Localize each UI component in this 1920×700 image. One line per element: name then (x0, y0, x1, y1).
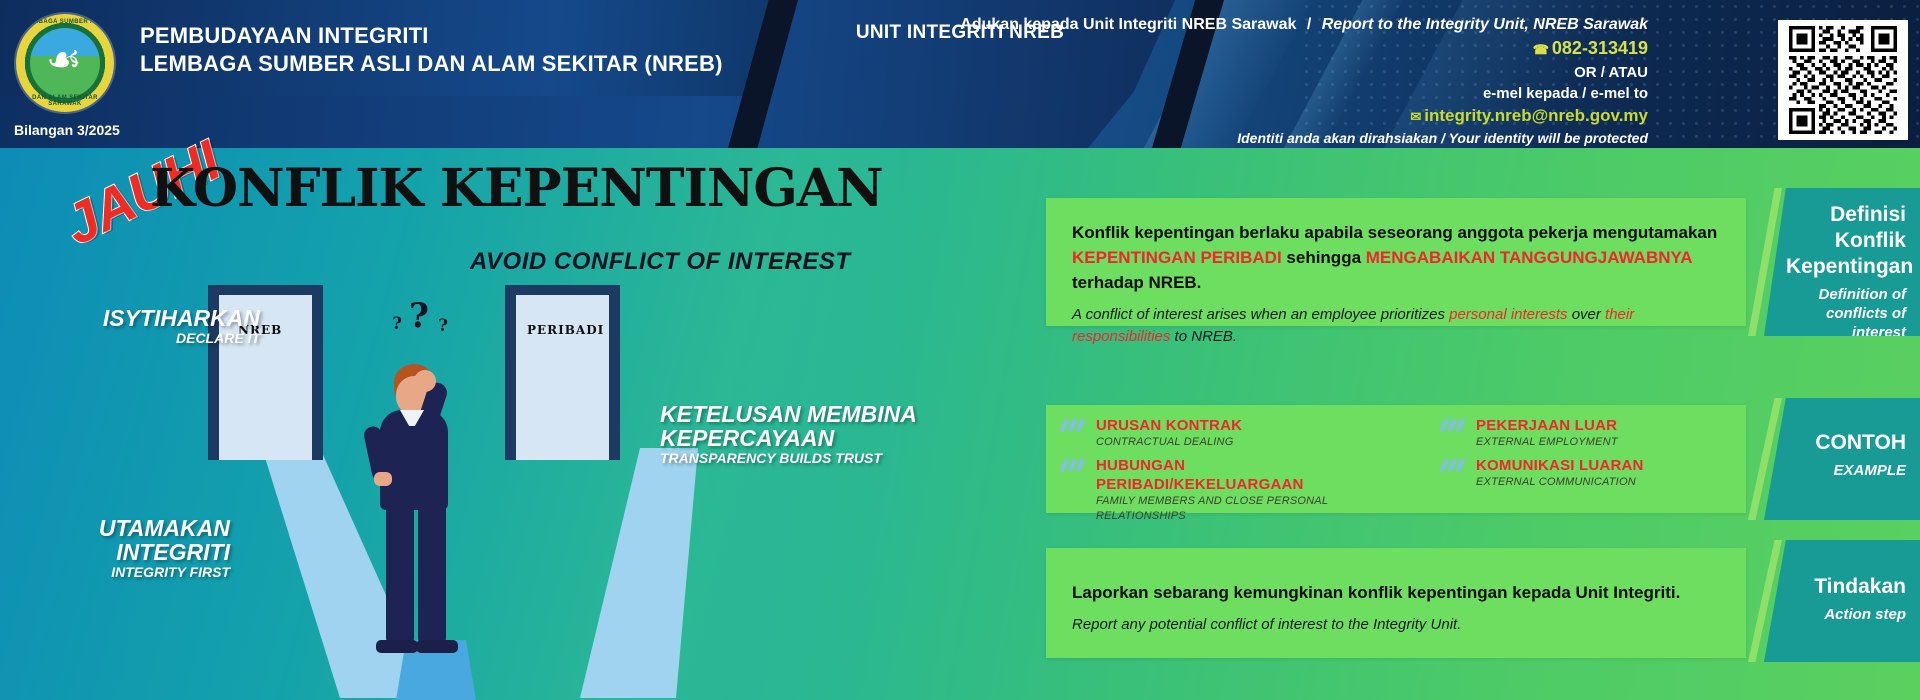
example-ms: PEKERJAAN LUAR (1476, 416, 1760, 435)
envelope-icon: ✉ (1410, 109, 1421, 124)
definition-en-post: to NREB. (1170, 328, 1237, 345)
tab-action-en: Action step (1786, 605, 1906, 624)
panel-action: Laporkan sebarang kemungkinan konflik ke… (1046, 548, 1746, 658)
example-item: KOMUNIKASI LUARAN EXTERNAL COMMUNICATION (1440, 456, 1760, 490)
header-title-line2: LEMBAGA SUMBER ASLI DAN ALAM SEKITAR (NR… (140, 50, 723, 78)
definition-ms-mid: sehingga (1282, 248, 1366, 267)
tab-example-en: EXAMPLE (1786, 461, 1906, 480)
examples-column-right: PEKERJAAN LUAR EXTERNAL EMPLOYMENT KOMUN… (1440, 416, 1760, 496)
tab-definition-ms-l2: Konflik (1786, 228, 1906, 254)
definition-text-en: A conflict of interest arises when an em… (1072, 304, 1720, 348)
hero-subheadline: AVOID CONFLICT OF INTEREST (470, 248, 851, 276)
hero-headline: KONFLIK KEPENTINGAN (150, 158, 883, 219)
definition-text-ms: Konflik kepentingan berlaku apabila sese… (1072, 220, 1720, 295)
caption-trust-ms-1: KETELUSAN MEMBINA (660, 402, 920, 426)
arrows-icon (1442, 459, 1468, 471)
phone-number: 082-313419 (1552, 38, 1648, 58)
poster-canvas: ☙ LEMBAGA SUMBER ASLI DAN ALAM SEKITAR S… (0, 0, 1920, 700)
tab-action-ms: Tindakan (1786, 574, 1906, 600)
tab-definition-ms-l1: Definisi (1786, 202, 1906, 228)
definition-en-pre: A conflict of interest arises when an em… (1072, 306, 1449, 323)
caption-declare: ISYTIHARKAN DECLARE IT (70, 306, 260, 346)
example-item: PEKERJAAN LUAR EXTERNAL EMPLOYMENT (1440, 416, 1760, 450)
tab-definition[interactable]: Definisi Konflik Kepentingan Definition … (1764, 188, 1920, 336)
caption-transparency: KETELUSAN MEMBINA KEPERCAYAAN TRANSPAREN… (660, 402, 920, 466)
email-label: e-mel kepada / e-mel to (808, 83, 1648, 104)
qr-code[interactable] (1778, 20, 1908, 140)
example-en: EXTERNAL COMMUNICATION (1476, 475, 1760, 490)
door-right-label: PERIBADI (527, 323, 604, 337)
arrows-icon (1442, 419, 1468, 431)
definition-ms-red1: KEPENTINGAN PERIBADI (1072, 248, 1282, 267)
tab-example-ms: CONTOH (1786, 430, 1906, 456)
issue-number: Bilangan 3/2025 (14, 122, 120, 138)
question-mark-large: ? (409, 296, 429, 336)
example-en: FAMILY MEMBERS AND CLOSE PERSONAL RELATI… (1096, 494, 1380, 524)
example-ms: KOMUNIKASI LUARAN (1476, 456, 1760, 475)
caption-integrity-first: UTAMAKAN INTEGRITI INTEGRITY FIRST (10, 516, 230, 580)
or-label: OR / ATAU (808, 62, 1648, 83)
caption-trust-en: TRANSPARENCY BUILDS TRUST (660, 450, 920, 466)
example-item: URUSAN KONTRAK CONTRACTUAL DEALING (1060, 416, 1380, 450)
logo-top-text: LEMBAGA SUMBER ASLI (16, 19, 114, 25)
header-title-line1: PEMBUDAYAAN INTEGRITI (140, 22, 723, 50)
definition-ms-red2: MENGABAIKAN TANGGUNGJAWABNYA (1366, 248, 1692, 267)
tab-definition-en: Definition of conflicts of interest (1786, 285, 1906, 342)
panel-definition: Konflik kepentingan berlaku apabila sese… (1046, 198, 1746, 326)
definition-ms-post: terhadap NREB. (1072, 273, 1201, 292)
caption-integrity-ms: UTAMAKAN INTEGRITI (10, 516, 230, 564)
report-line-ms: Adukan kepada Unit Integriti NREB Sarawa… (960, 16, 1296, 33)
caption-integrity-en: INTEGRITY FIRST (10, 564, 230, 580)
caption-declare-en: DECLARE IT (70, 330, 260, 346)
action-text-en: Report any potential conflict of interes… (1072, 614, 1720, 636)
phone-icon: ☎ (1533, 42, 1549, 57)
logo-bottom-text: DAN ALAM SEKITAR SARAWAK (16, 95, 114, 107)
definition-en-mid: over (1568, 306, 1606, 323)
example-item: HUBUNGAN PERIBADI/KEKELUARGAAN FAMILY ME… (1060, 456, 1380, 524)
person-figure (370, 340, 480, 700)
report-contact-block: Adukan kepada Unit Integriti NREB Sarawa… (808, 14, 1648, 148)
definition-en-red1: personal interests (1449, 306, 1567, 323)
report-line-en: Report to the Integrity Unit, NREB Saraw… (1322, 16, 1648, 33)
tab-definition-ms-l3: Kepentingan (1786, 254, 1906, 280)
question-mark-small-right: ? (438, 316, 448, 336)
agency-logo: ☙ LEMBAGA SUMBER ASLI DAN ALAM SEKITAR S… (16, 14, 114, 112)
arrows-icon (1062, 419, 1088, 431)
light-beam-right (518, 448, 718, 698)
caption-declare-ms: ISYTIHARKAN (70, 306, 260, 330)
action-text-ms: Laporkan sebarang kemungkinan konflik ke… (1072, 580, 1720, 605)
phone-row[interactable]: ☎082-313419 (808, 36, 1648, 62)
caption-trust-ms-2: KEPERCAYAAN (660, 426, 920, 450)
example-en: EXTERNAL EMPLOYMENT (1476, 435, 1760, 450)
tab-example[interactable]: CONTOH EXAMPLE (1764, 398, 1920, 520)
door-peribadi: PERIBADI (505, 285, 620, 460)
tab-action[interactable]: Tindakan Action step (1764, 540, 1920, 662)
arrows-icon (1062, 459, 1088, 471)
examples-column-left: URUSAN KONTRAK CONTRACTUAL DEALING HUBUN… (1060, 416, 1380, 530)
email-row[interactable]: ✉integrity.nreb@nreb.gov.my (808, 104, 1648, 128)
doors-illustration: NREB PERIBADI ? ? ? (200, 290, 760, 700)
page-header: ☙ LEMBAGA SUMBER ASLI DAN ALAM SEKITAR S… (0, 0, 1920, 148)
example-en: CONTRACTUAL DEALING (1096, 435, 1380, 450)
privacy-note: Identiti anda akan dirahsiakan / Your id… (808, 128, 1648, 148)
example-ms: HUBUNGAN PERIBADI/KEKELUARGAAN (1096, 456, 1380, 494)
header-title-block: PEMBUDAYAAN INTEGRITI LEMBAGA SUMBER ASL… (140, 22, 723, 78)
hand-leaf-icon: ☙ (46, 38, 84, 84)
report-separator: / (1307, 16, 1311, 33)
question-mark-small-left: ? (392, 314, 402, 334)
example-ms: URUSAN KONTRAK (1096, 416, 1380, 435)
definition-ms-pre: Konflik kepentingan berlaku apabila sese… (1072, 223, 1717, 242)
email-address: integrity.nreb@nreb.gov.my (1424, 106, 1648, 125)
